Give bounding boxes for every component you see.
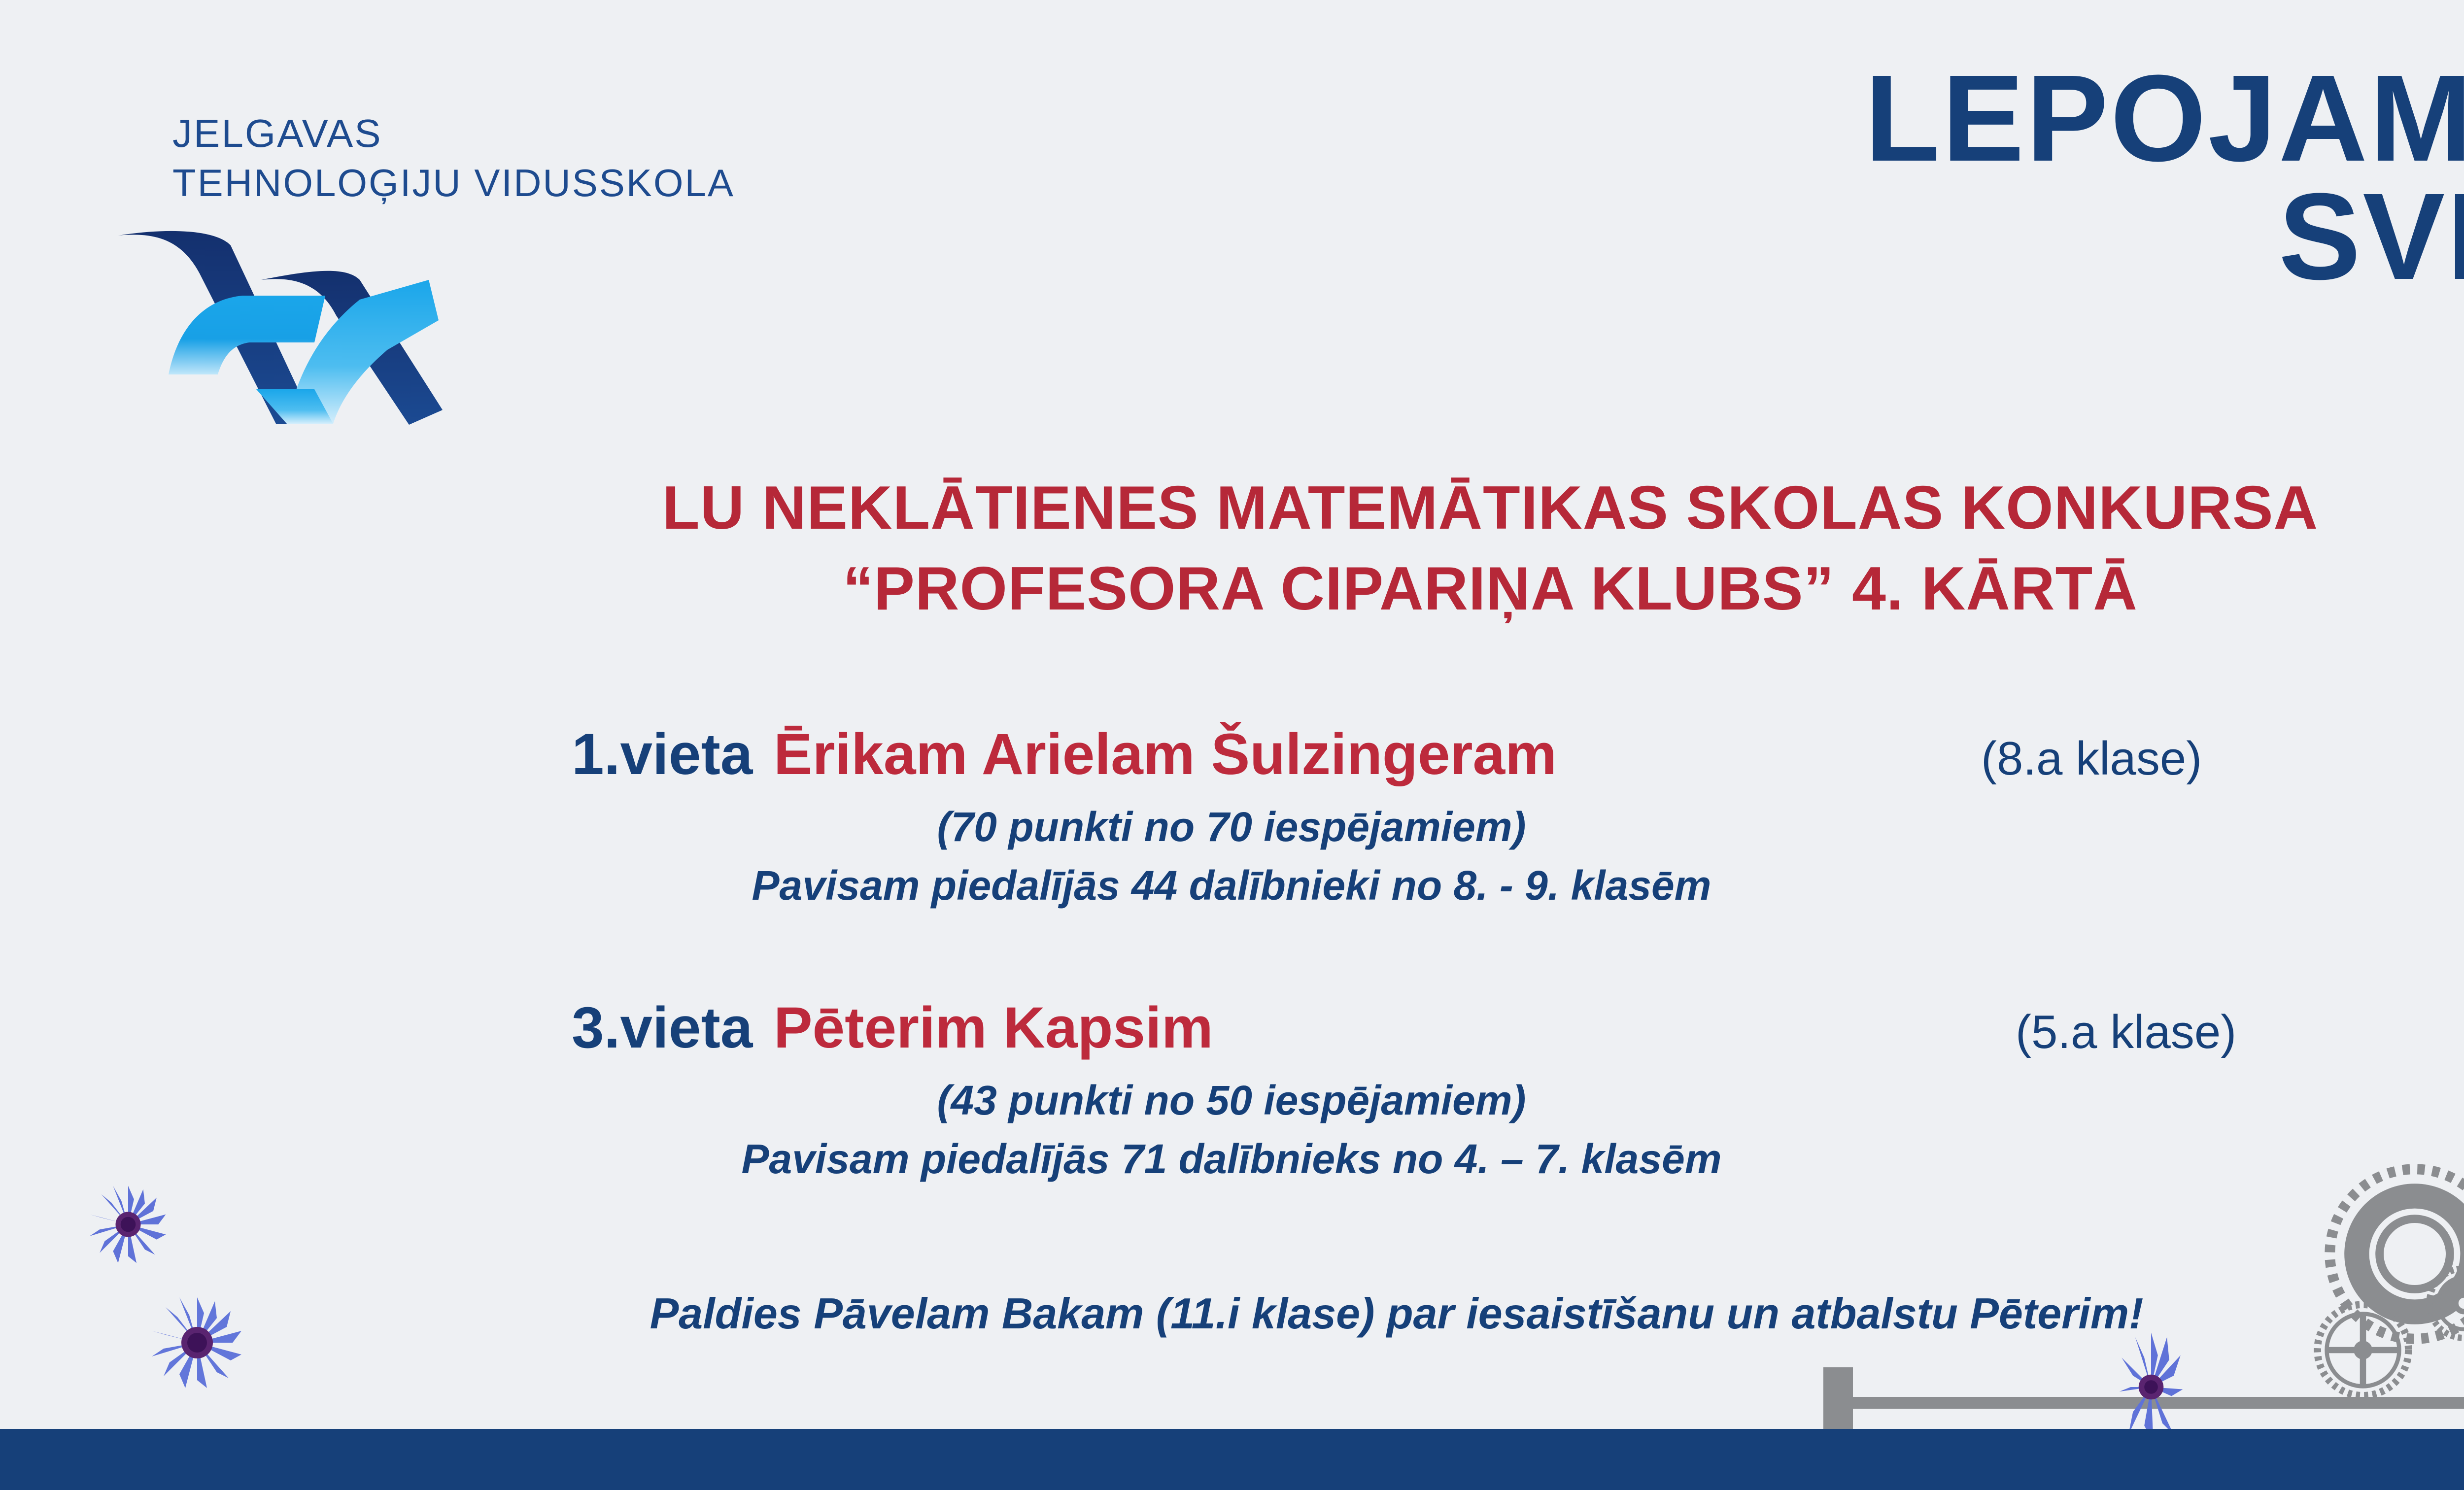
- logo-wordmark: JELGAVAS TEHNOLOĢIJU VIDUSSKOLA: [172, 108, 887, 208]
- cornflower-icon: [148, 1291, 246, 1394]
- award-class: (8.a klase): [1981, 730, 2202, 787]
- award-row: 1.vieta Ērikam Arielam Šulzingeram (8.a …: [0, 719, 2464, 803]
- gray-rail-stop: [1823, 1367, 1853, 1439]
- award-entry: 3.vieta Pēterim Kapsim (5.a klase) (43 p…: [0, 993, 2464, 1185]
- award-place: 3.vieta: [572, 993, 753, 1064]
- award-participants: Pavisam piedalījās 44 dalībnieki no 8. -…: [0, 860, 2464, 912]
- thanks-note: Paldies Pāvelam Bakam (11.i klase) par i…: [0, 1288, 2464, 1339]
- cornflower-icon: [2114, 1330, 2188, 1444]
- award-name: Pēterim Kapsim: [774, 993, 1213, 1064]
- bottom-bar: [0, 1429, 2464, 1490]
- award-row: 3.vieta Pēterim Kapsim (5.a klase): [0, 993, 2464, 1077]
- cornflower-icon: [86, 1183, 170, 1266]
- award-name: Ērikam Arielam Šulzingeram: [774, 719, 1557, 790]
- award-points: (70 punkti no 70 iespējamiem): [0, 801, 2464, 853]
- school-logo: JELGAVAS TEHNOLOĢIJU VIDUSSKOLA: [59, 94, 897, 429]
- jtv-w-logo-mark-icon: [113, 227, 448, 434]
- award-class: (5.a klase): [2016, 1004, 2236, 1060]
- logo-line-1: JELGAVAS: [172, 108, 887, 159]
- award-place: 1.vieta: [572, 719, 753, 790]
- gear-icon: [2425, 1264, 2464, 1343]
- award-points: (43 punkti no 50 iespējamiem): [0, 1075, 2464, 1126]
- headline: LEPOJAMIES UN SVEICAM!: [1221, 59, 2464, 296]
- award-entry: 1.vieta Ērikam Arielam Šulzingeram (8.a …: [0, 719, 2464, 912]
- headline-line-1: LEPOJAMIES UN: [1221, 59, 2464, 177]
- award-participants: Pavisam piedalījās 71 dalībnieks no 4. –…: [0, 1133, 2464, 1185]
- gear-icon: [2311, 1298, 2415, 1402]
- subtitle-line-2: “PROFESORA CIPARIŅA KLUBS” 4. KĀRTĀ: [0, 549, 2464, 630]
- logo-line-2: TEHNOLOĢIJU VIDUSSKOLA: [172, 159, 887, 208]
- subtitle-line-1: LU NEKLĀTIENES MATEMĀTIKAS SKOLAS KONKUR…: [0, 468, 2464, 549]
- competition-subtitle: LU NEKLĀTIENES MATEMĀTIKAS SKOLAS KONKUR…: [0, 468, 2464, 629]
- headline-line-2: SVEICAM!: [1221, 177, 2464, 296]
